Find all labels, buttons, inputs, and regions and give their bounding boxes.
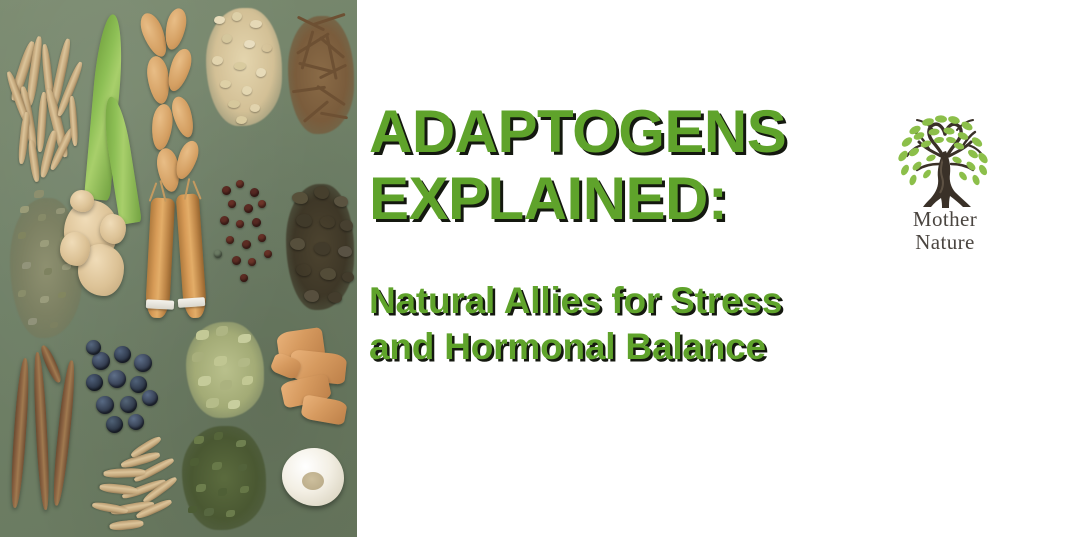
adaptogens-banner: ADAPTOGENS EXPLAINED: Natural Allies for… [0,0,1080,537]
page-title: ADAPTOGENS EXPLAINED: [369,98,899,232]
tree-heart-logo-icon [881,108,1009,216]
maca-bulb-core [302,472,324,490]
page-subtitle: Natural Allies for Stress and Hormonal B… [369,278,969,370]
brand-logo[interactable]: Mother Nature [881,108,1009,263]
text-panel: ADAPTOGENS EXPLAINED: Natural Allies for… [357,0,1080,537]
brand-logo-text: Mother Nature [881,208,1009,253]
herbs-flatlay-photo [0,0,357,537]
